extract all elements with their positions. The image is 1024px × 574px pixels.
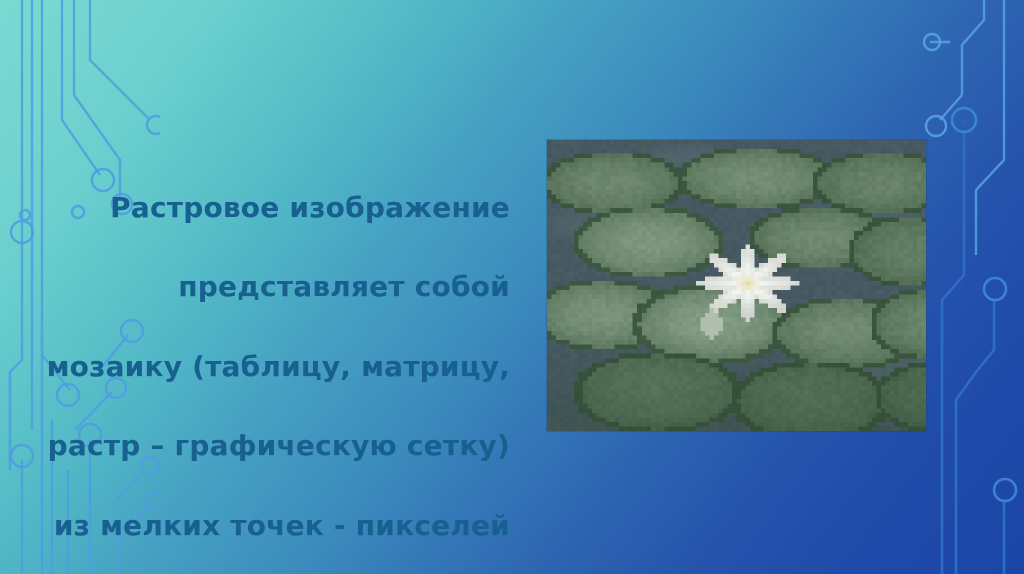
water-lily-photo bbox=[547, 140, 926, 431]
headline-line-2: представляет собой bbox=[40, 267, 510, 307]
headline-line-5: из мелких точек - пикселей bbox=[40, 506, 510, 546]
headline-line-4: растр – графическую сетку) bbox=[40, 426, 510, 466]
headline-line-1: Растровое изображение bbox=[40, 188, 510, 228]
raster-image-illustration bbox=[547, 140, 926, 431]
presentation-slide: Растровое изображение представляет собой… bbox=[0, 0, 1024, 574]
headline-line-3: мозаику (таблицу, матрицу, bbox=[40, 347, 510, 387]
page-title: Растровое изображение представляет собой… bbox=[40, 148, 510, 574]
